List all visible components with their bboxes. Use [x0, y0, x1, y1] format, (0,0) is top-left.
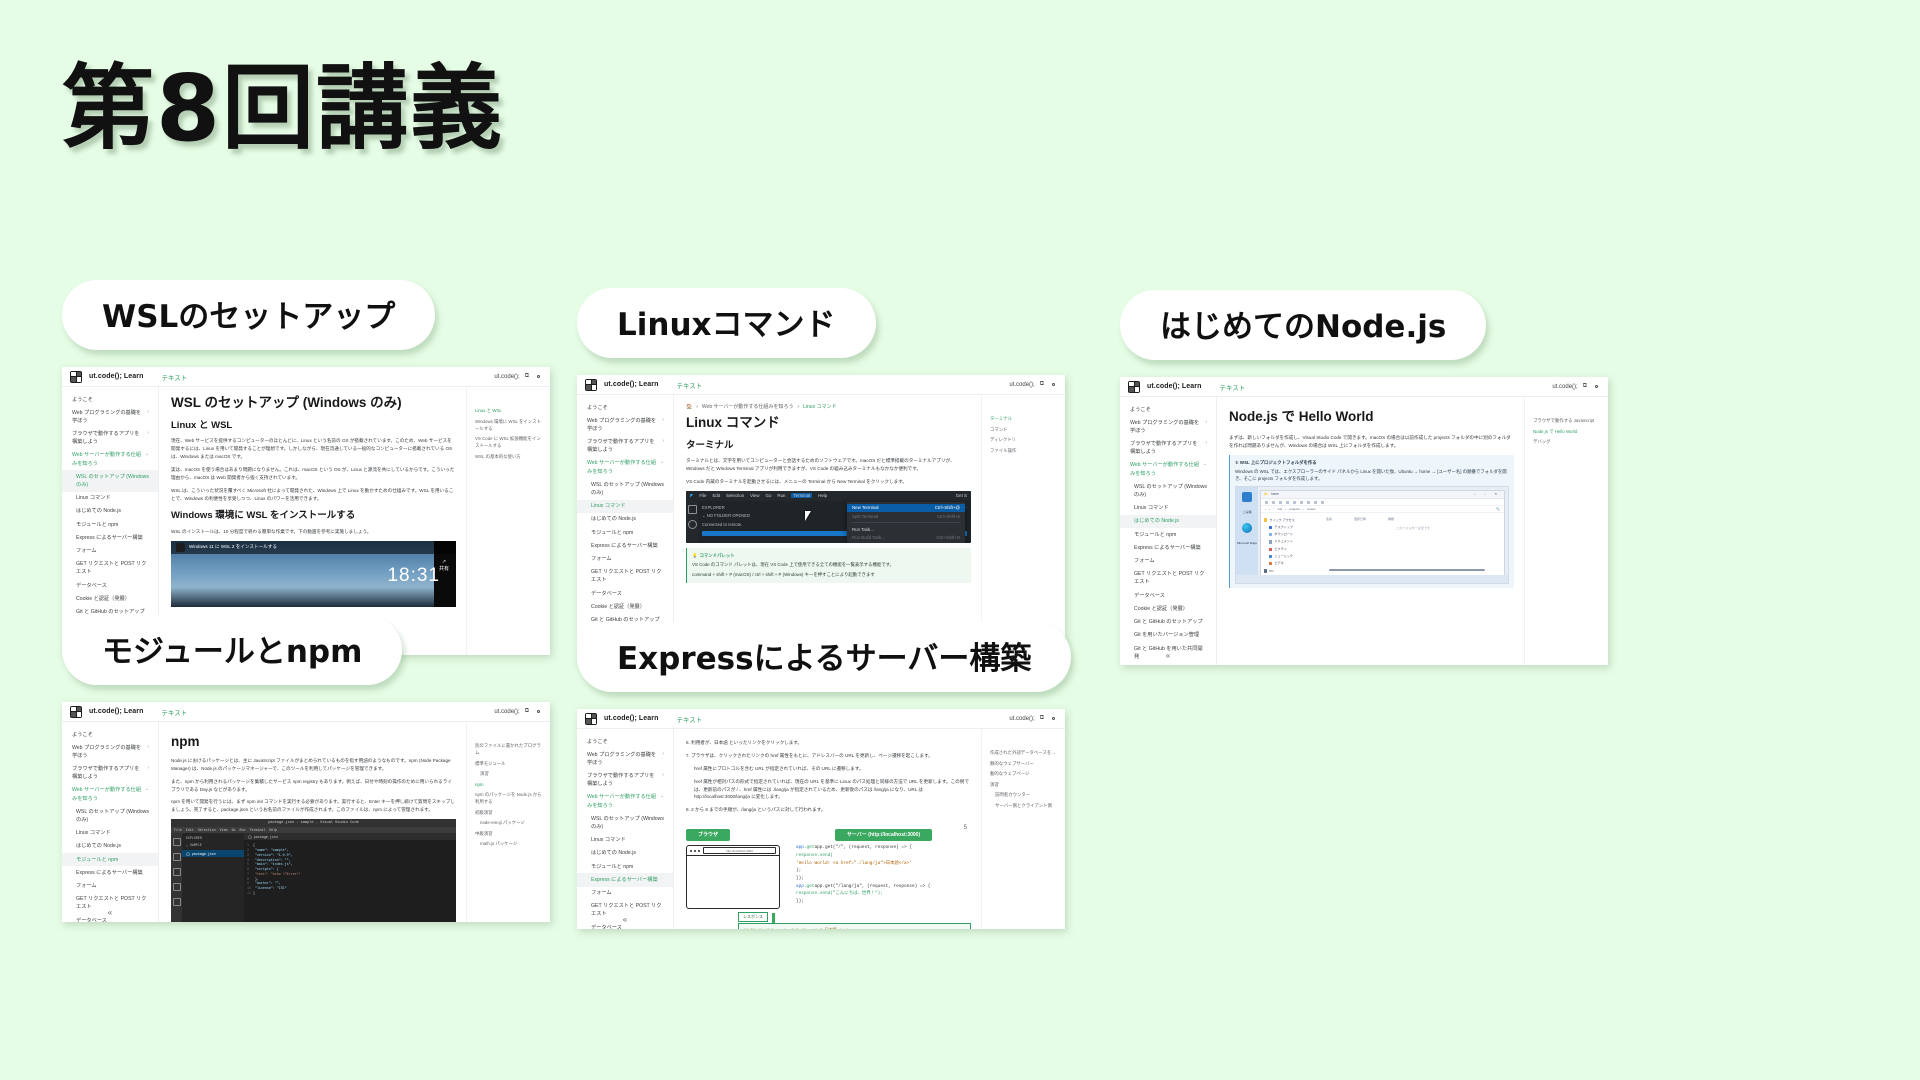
brand-name: ut.code(); Learn [89, 373, 144, 380]
doc-topbar: ut.code(); Learn テキスト ut.code(); ⧉ [577, 375, 1065, 395]
toc-item[interactable]: 標準モジュール [475, 760, 543, 767]
sidebar-item-label: Web サーバーが動作する仕組みを知ろう [72, 451, 142, 467]
path-segment[interactable]: recipe [1307, 507, 1315, 512]
sidebar-item-git-version[interactable]: Git を用いたバージョン管理 [1120, 629, 1216, 642]
toc-item[interactable]: node-emoji パッケージ [475, 819, 543, 826]
vscode-right-label: Get S [956, 493, 967, 498]
sidebar-item-form[interactable]: フォーム [1120, 555, 1216, 568]
taskbar [1236, 575, 1508, 583]
sidebar-item-label: WSL のセットアップ (Windows のみ) [591, 481, 664, 497]
toc-item[interactable]: VS Code に WSL 拡張機能をインストールする [475, 435, 543, 449]
screenshot-express[interactable]: ut.code(); Learn テキスト ut.code(); ⧉ ようこそ … [577, 709, 1065, 929]
sidebar-item-database[interactable]: データベース [62, 579, 158, 592]
paragraph: npm を用いて開発を行うには、まず npm init コマンドを実行する必要が… [171, 798, 456, 814]
sidebar-item-browser-apps[interactable]: ブラウザで動作するアプリを構築しよう› [62, 763, 158, 784]
list-item: 6. 利用者が、日本語 といったリンクをクリックします。 [686, 739, 971, 747]
callout-title: 💡コマンドパレット [692, 552, 966, 559]
external-link-icon[interactable]: ⧉ [525, 708, 529, 715]
paragraph: VS Code 内蔵のターミナルを起動させるには、メニューの Terminal … [686, 478, 971, 486]
sidebar-collapse-button[interactable]: « [62, 907, 158, 919]
menu-edit[interactable]: Edit [186, 828, 194, 832]
toc-item[interactable]: 静的なウェブサーバー [990, 760, 1058, 767]
scm-icon[interactable] [173, 868, 181, 876]
chevron-right-icon: › [147, 744, 149, 760]
paragraph: 現在、Web サービスを提供するコンピューターのほとんどに、Linux という名… [171, 437, 456, 461]
sort-icon[interactable] [1307, 501, 1310, 504]
sidebar-item-module-npm[interactable]: モジュールと npm [577, 526, 673, 539]
window-titlebar: 📁 home – ▫ ✕ [1261, 491, 1504, 499]
doc-main: npm Node.js におけるパッケージとは、主に JavaScript ファ… [159, 722, 466, 922]
sidebar-item-label: WSL のセットアップ (Windows のみ) [591, 815, 664, 831]
search-icon[interactable] [688, 520, 697, 529]
picture-icon [1269, 548, 1272, 551]
chevron-right-icon: › [662, 772, 664, 788]
sidebar-item-web-server[interactable]: Web サーバーが動作する仕組みを知ろう⌄ [1120, 459, 1216, 480]
debug-icon[interactable] [173, 883, 181, 891]
sidebar-item-cookie-auth[interactable]: Cookie と認証（発展） [62, 592, 158, 605]
sun-icon[interactable] [534, 708, 542, 716]
section-title-wsl: WSLのセットアップ [62, 280, 435, 350]
utcode-logo-icon [585, 713, 597, 725]
section-title-express: Expressによるサーバー構築 [577, 622, 1071, 692]
tree-item[interactable]: PC [1264, 567, 1320, 574]
view-icon[interactable] [1314, 501, 1317, 504]
menu-file[interactable]: File [174, 828, 182, 832]
tree-item[interactable]: ダウンロード [1264, 531, 1320, 538]
video-clock: 18:31 [387, 565, 440, 587]
sidebar-item-wsl-setup[interactable]: WSL のセットアップ (Windows のみ) [577, 812, 673, 833]
search-icon[interactable] [173, 853, 181, 861]
response-callout: レスポンス 'Hello World! <a href="./lang/ja">… [738, 905, 971, 929]
sidebar-item-label: Linux コマンド [591, 836, 626, 844]
tree-item-label: PC [1269, 569, 1273, 574]
paste-icon[interactable] [1286, 501, 1289, 504]
sidebar-item-label: ようこそ [72, 396, 93, 404]
toc-item[interactable]: デバッグ [1533, 438, 1601, 445]
diagram-browser-side: ブラウザ http://localhost:3000 [686, 823, 780, 909]
sidebar-item-wsl-setup[interactable]: WSL のセットアップ (Windows のみ) [62, 470, 158, 491]
sidebar-item-module-npm[interactable]: モジュールと npm [62, 853, 158, 866]
breadcrumb-item[interactable]: Web サーバーが動作する仕組みを知ろう [702, 403, 794, 410]
external-link-icon[interactable]: ⧉ [1040, 715, 1044, 722]
sidebar-item-label: データベース [76, 582, 107, 590]
diagram-browser-label: ブラウザ [686, 829, 730, 841]
sidebar-item-git-setup[interactable]: Git と GitHub のセットアップ [1120, 616, 1216, 629]
menu-file[interactable]: File [699, 493, 706, 498]
column-modified[interactable]: 更新日時 [1354, 517, 1366, 522]
screenshot-npm[interactable]: ut.code(); Learn テキスト ut.code(); ⧉ ようこそ … [62, 702, 550, 922]
chevron-right-icon: › [1205, 419, 1207, 435]
menu-item-run-task[interactable]: Run Task... [847, 525, 965, 533]
sidebar-item-label: Express によるサーバー構築 [76, 534, 143, 542]
topbar-right: ut.code(); ⧉ [494, 373, 542, 381]
sidebar-item-label: ブラウザで動作するアプリを構築しよう [72, 765, 144, 781]
tree-item[interactable]: ビデオ [1264, 560, 1320, 567]
sidebar-item-wsl-setup[interactable]: WSL のセットアップ (Windows のみ) [577, 478, 673, 499]
menu-item-label: Run Task... [852, 527, 874, 532]
sidebar-item-linux-command[interactable]: Linux コマンド [62, 827, 158, 840]
doc-body: ようこそ Web プログラミングの基礎を学ぼう› ブラウザで動作するアプリを構築… [62, 722, 550, 922]
brand-name: ut.code(); Learn [89, 708, 144, 715]
editor-code[interactable]: 1{ 2 "name": "sample", 3 "version": "1.0… [244, 840, 456, 895]
toc-item[interactable]: ターミナル [990, 415, 1058, 422]
home-icon[interactable]: 🏠 [686, 404, 692, 410]
toc-item[interactable]: ディレクトリ [990, 436, 1058, 443]
explorer-title: EXPLORER [702, 505, 725, 510]
doc-sidebar: ようこそ Web プログラミングの基礎を学ぼう› ブラウザで動作するアプリを構築… [62, 722, 159, 922]
url-bar[interactable]: http://localhost:3000 [703, 847, 776, 855]
callout-body: VS Code のコマンド パレットは、現在 VS Code 上で使用できる全て… [692, 561, 966, 568]
sidebar-item-browser-apps[interactable]: ブラウザで動作するアプリを構築しよう› [62, 428, 158, 449]
tree-item-label: ダウンロード [1274, 532, 1293, 537]
sidebar-item-label: Cookie と認証（発展） [1134, 605, 1188, 613]
folder-icon [1269, 526, 1272, 529]
chevron-right-icon: › [662, 417, 664, 433]
sidebar-item-label: Git と GitHub のセットアップ [1134, 618, 1203, 626]
sidebar-item-get-post[interactable]: GET リクエストと POST リクエスト [62, 558, 158, 579]
toc-item[interactable]: 別のファイルに書かれたプログラム [475, 742, 543, 756]
nav-link-text[interactable]: テキスト [1220, 382, 1246, 392]
tree-item-label: ドキュメント [1274, 539, 1293, 544]
lightbulb-icon: 💡 [692, 552, 697, 559]
toc-item[interactable]: ブラウザで動作する JavaScript [1533, 417, 1601, 424]
sidebar-item-browser-apps[interactable]: ブラウザで動作するアプリを構築しよう› [1120, 438, 1216, 459]
sidebar-item-linux-command[interactable]: Linux コマンド [577, 500, 673, 513]
folder-icon: 📁 [1264, 492, 1268, 497]
section-express: Expressによるサーバー構築 ut.code(); Learn テキスト u… [577, 622, 1071, 929]
sun-icon[interactable] [1049, 715, 1057, 723]
sidebar-item-welcome[interactable]: ようこそ [577, 401, 673, 414]
vscode-explorer: EXPLORER ⌄ SAMPLE {} package.json [182, 833, 244, 922]
sidebar-item-label: Cookie と認証（発展） [591, 603, 645, 611]
sidebar-item-get-post[interactable]: GET リクエストと POST リクエスト [577, 566, 673, 587]
window-dots-icon [690, 850, 700, 852]
sidebar-item-express[interactable]: Express によるサーバー構築 [62, 531, 158, 544]
chevron-down-icon: ⌄ [660, 793, 664, 809]
window-title: home [1271, 492, 1279, 497]
screenshot-nodejs[interactable]: ut.code(); Learn テキスト ut.code(); ⧉ ようこそ … [1120, 377, 1608, 665]
files-icon[interactable] [688, 505, 697, 514]
doc-body: ようこそ Web プログラミングの基礎を学ぼう› ブラウザで動作するアプリを構築… [577, 729, 1065, 929]
sidebar-item-web-basics[interactable]: Web プログラミングの基礎を学ぼう› [62, 406, 158, 427]
breadcrumb-item-current[interactable]: Linux コマンド [803, 403, 836, 410]
sidebar-item-first-nodejs[interactable]: はじめての Node.js [577, 847, 673, 860]
section-npm: モジュールとnpm ut.code(); Learn テキスト ut.code(… [62, 615, 550, 922]
video-embed[interactable]: Windows 11 に WSL 2 をインストールする ↗共有 18:31 [171, 541, 456, 607]
sidebar-item-web-basics[interactable]: Web プログラミングの基礎を学ぼう› [577, 748, 673, 769]
extensions-icon[interactable] [173, 898, 181, 906]
vscode-mock: ◤ File Edit Selection View Go Run Termin… [686, 491, 971, 543]
server-code-block[interactable]: app.getapp.get("/", (request, response) … [796, 844, 971, 906]
toc-item[interactable]: Node.js で Hello World [1533, 428, 1601, 435]
toc-item[interactable]: Linux と WSL [475, 407, 543, 414]
video-avatar-icon [176, 543, 185, 552]
window-controls[interactable]: – ▫ ✕ [1474, 492, 1501, 497]
vscode-workbench: EXPLORER ⌄ SAMPLE {} package.json {} pac… [171, 833, 456, 922]
menu-item-label: Run Build Task... [852, 535, 885, 540]
external-link-icon[interactable]: ⧉ [525, 373, 529, 380]
doc-root: ut.code(); Learn テキスト ut.code(); ⧉ ようこそ … [1120, 377, 1608, 665]
toc-item[interactable]: ファイル操作 [990, 447, 1058, 454]
tree-item-label: ミュージック [1274, 554, 1293, 559]
step-number: 5 [964, 825, 967, 831]
menu-item-run-build-task[interactable]: Run Build Task...Ctrl+Shift+B [847, 533, 965, 541]
menu-view[interactable]: View [220, 828, 228, 832]
sidebar-item-form[interactable]: フォーム [577, 553, 673, 566]
toc-item[interactable]: 訪問者カウンター [990, 791, 1058, 798]
menu-item-split-terminal[interactable]: Split TerminalCtrl+Shift+5 [847, 512, 965, 520]
chevron-right-icon: › [147, 409, 149, 425]
menu-help[interactable]: Help [818, 493, 827, 498]
sidebar-item-label: Web プログラミングの基礎を学ぼう [587, 751, 659, 767]
search-icon[interactable]: 🔍 [1496, 507, 1500, 512]
sidebar-item-web-server[interactable]: Web サーバーが動作する仕組みを知ろう⌄ [577, 457, 673, 478]
callout-keys: command + shift + P (macOS) / ctrl + shi… [692, 571, 966, 578]
back-icon[interactable]: ‹ [1265, 507, 1266, 512]
filelist-columns: 名前 更新日時 種類 [1326, 517, 1500, 522]
tree-item[interactable]: ピクチャ [1264, 546, 1320, 553]
nav-link-text[interactable]: テキスト [677, 714, 703, 724]
page-heading: Linux コマンド [686, 415, 971, 432]
tree-item[interactable]: ミュージック [1264, 553, 1320, 560]
new-icon[interactable] [1265, 501, 1268, 504]
brand-name: ut.code(); Learn [1147, 383, 1202, 390]
sidebar-item-label: はじめての Node.js [76, 842, 121, 850]
menu-view[interactable]: View [750, 493, 759, 498]
address-bar[interactable]: ‹›↑ wsl› projects› recipe 🔍 [1261, 506, 1504, 513]
menu-help[interactable]: Help [269, 828, 277, 832]
sidebar-item-database[interactable]: データベース [577, 587, 673, 600]
sidebar-item-label: モジュールと npm [76, 856, 118, 864]
external-link-icon[interactable]: ⧉ [1040, 381, 1044, 388]
page-title: 第8回講義 [62, 56, 504, 162]
callout-title-text: コマンドパレット [699, 552, 734, 559]
edge-icon [1242, 523, 1252, 533]
sidebar-item-label: モジュールと npm [76, 521, 118, 529]
rename-icon[interactable] [1293, 501, 1296, 504]
video-share-button[interactable]: ↗共有 [439, 559, 449, 572]
code-line: }); [796, 875, 971, 883]
sidebar-item-label: WSL のセットアップ (Windows のみ) [1134, 483, 1207, 499]
topbar-right: ut.code(); ⧉ [1009, 715, 1057, 723]
nav-link-text[interactable]: テキスト [677, 380, 703, 390]
sidebar-item-first-nodejs[interactable]: はじめての Node.js [1120, 515, 1216, 528]
delete-icon[interactable] [1300, 501, 1303, 504]
top-right-label: ut.code(); [494, 709, 519, 715]
sidebar-item-web-server[interactable]: Web サーバーが動作する仕組みを知ろう⌄ [62, 449, 158, 470]
topbar-right: ut.code(); ⧉ [1552, 383, 1600, 391]
menu-item-shortcut: Ctrl+Shift+@ [935, 505, 960, 510]
breadcrumb: 🏠› Web サーバーが動作する仕組みを知ろう› Linux コマンド [686, 403, 971, 410]
sidebar-item-wsl-setup[interactable]: WSL のセットアップ (Windows のみ) [62, 805, 158, 826]
sidebar-item-web-server[interactable]: Web サーバーが動作する仕組みを知ろう⌄ [577, 791, 673, 812]
sidebar-item-label: Web プログラミングの基礎を学ぼう [587, 417, 659, 433]
toc-item[interactable]: コマンド [990, 426, 1058, 433]
doc-sidebar: ようこそ Web プログラミングの基礎を学ぼう› ブラウザで動作するアプリを構築… [577, 729, 674, 929]
sidebar-item-express[interactable]: Express によるサーバー構築 [577, 873, 673, 886]
sidebar-item-label: フォーム [591, 555, 612, 563]
external-link-icon[interactable]: ⧉ [1583, 383, 1587, 390]
code-line: app.getapp.get("/lang/ja", (request, res… [796, 883, 971, 891]
sidebar-item-wsl-setup[interactable]: WSL のセットアップ (Windows のみ) [1120, 480, 1216, 501]
sidebar-item-form[interactable]: フォーム [62, 880, 158, 893]
sidebar-item-first-nodejs[interactable]: はじめての Node.js [62, 840, 158, 853]
utcode-logo-icon [70, 706, 82, 718]
response-body: 'Hello World! <a href="./lang/ja">日本語</a… [738, 923, 971, 929]
menu-item-label: Split Terminal [852, 514, 878, 519]
nav-link-text[interactable]: テキスト [162, 372, 188, 382]
diagram-server-side: サーバー (http://localhost:3000) 5 app.getap… [796, 823, 971, 906]
sidebar-item-label: Express によるサーバー構築 [1134, 544, 1201, 552]
more-icon[interactable] [1321, 501, 1324, 504]
toc-item[interactable]: 動的なウェブページ [990, 770, 1058, 777]
sidebar-item-cookie-auth[interactable]: Cookie と認証（発展） [577, 600, 673, 613]
toc-item[interactable]: 作成された外部データベースを... [990, 749, 1058, 756]
toc-item[interactable]: npm [475, 781, 543, 788]
path-segment[interactable]: wsl [1278, 507, 1282, 512]
sidebar-item-welcome[interactable]: ようこそ [1120, 403, 1216, 416]
browser-window-mock: http://localhost:3000 [686, 845, 780, 909]
top-right-label: ut.code(); [1009, 716, 1034, 722]
section-heading: Windows 環境に WSL をインストールする [171, 510, 456, 522]
code-line: ); [796, 867, 971, 875]
sidebar-item-linux-command[interactable]: Linux コマンド [1120, 502, 1216, 515]
sun-icon[interactable] [1592, 383, 1600, 391]
menu-terminal[interactable]: Terminal [249, 828, 265, 832]
toc-item[interactable]: 演習 [475, 770, 543, 777]
copy-icon[interactable] [1279, 501, 1282, 504]
sidebar-item-welcome[interactable]: ようこそ [577, 735, 673, 748]
menu-go[interactable]: Go [232, 828, 236, 832]
sidebar-item-label: Linux コマンド [591, 502, 626, 510]
sidebar-item-label: ブラウザで動作するアプリを構築しよう [72, 430, 144, 446]
paragraph: また、npm から利用されるパッケージを集積したサービス npm registr… [171, 778, 456, 794]
sidebar-item-linux-command[interactable]: Linux コマンド [577, 834, 673, 847]
tree-item[interactable]: デスクトップ [1264, 524, 1320, 531]
toc-item[interactable]: Windows 環境に WSL をインストールする [475, 418, 543, 432]
brand-name: ut.code(); Learn [604, 381, 659, 388]
toc-item[interactable]: 初級演習 [475, 809, 543, 816]
sidebar-item-form[interactable]: フォーム [577, 887, 673, 900]
tree-item[interactable]: クイック アクセス [1264, 516, 1320, 523]
screenshot-wsl[interactable]: ut.code(); Learn テキスト ut.code(); ⧉ ようこそ … [62, 367, 550, 655]
sidebar-item-linux-command[interactable]: Linux コマンド [62, 492, 158, 505]
sidebar-item-label: Cookie と認証（発展） [76, 595, 130, 603]
menu-terminal[interactable]: Terminal [791, 493, 812, 498]
cut-icon[interactable] [1272, 501, 1275, 504]
menu-edit[interactable]: Edit [712, 493, 720, 498]
tree-item-label: ピクチャ [1274, 547, 1286, 552]
app-icon [1242, 492, 1252, 502]
sidebar-item-get-post[interactable]: GET リクエストと POST リクエスト [1120, 568, 1216, 589]
sidebar-item-express[interactable]: Express によるサーバー構築 [62, 866, 158, 879]
app-label: Microsoft Edge [1237, 541, 1257, 546]
sidebar-item-web-basics[interactable]: Web プログラミングの基礎を学ぼう› [1120, 416, 1216, 437]
path-segment[interactable]: projects [1289, 507, 1300, 512]
toc-item[interactable]: 演習 [990, 781, 1058, 788]
sidebar-item-label: モジュールと npm [1134, 531, 1176, 539]
doc-root: ut.code(); Learn テキスト ut.code(); ⧉ ようこそ … [577, 375, 1065, 663]
page-heading: npm [171, 734, 456, 751]
sidebar-item-welcome[interactable]: ようこそ [62, 393, 158, 406]
sidebar-item-web-basics[interactable]: Web プログラミングの基礎を学ぼう› [62, 741, 158, 762]
sidebar-item-module-npm[interactable]: モジュールと npm [1120, 528, 1216, 541]
video-title: Windows 11 に WSL 2 をインストールする [189, 544, 277, 550]
window-title: package.json - sample - Visual Studio Co… [171, 819, 456, 827]
sidebar-item-first-nodejs[interactable]: はじめての Node.js [577, 513, 673, 526]
menu-divider [851, 522, 961, 523]
sidebar-item-render-deploy[interactable]: Render へのデプロイ [1120, 663, 1216, 665]
forward-icon[interactable]: › [1269, 507, 1270, 512]
section-wsl: WSLのセットアップ ut.code(); Learn テキスト ut.code… [62, 280, 550, 655]
chevron-right-icon: › [147, 430, 149, 446]
toc-item[interactable]: 中級演習 [475, 830, 543, 837]
menu-go[interactable]: Go [766, 493, 772, 498]
sidebar-item-express[interactable]: Express によるサーバー構築 [1120, 541, 1216, 554]
explorer-file-selected[interactable]: {} package.json [182, 850, 244, 857]
toc-item[interactable]: WSL の基本的な使い方 [475, 453, 543, 460]
music-icon [1269, 555, 1272, 558]
sidebar-item-module-npm[interactable]: モジュールと npm [577, 860, 673, 873]
sidebar-item-database[interactable]: データベース [1120, 589, 1216, 602]
section-linux: Linuxコマンド ut.code(); Learn テキスト ut.code(… [577, 288, 1065, 663]
doc-root: ut.code(); Learn テキスト ut.code(); ⧉ ようこそ … [62, 702, 550, 922]
sidebar-collapse-button[interactable]: « [1120, 650, 1216, 662]
toc-item[interactable]: npm のパッケージを Node.js から利用する [475, 791, 543, 805]
tree-item-label: クイック アクセス [1269, 518, 1294, 523]
sidebar-item-browser-apps[interactable]: ブラウザで動作するアプリを構築しよう› [577, 436, 673, 457]
sidebar-item-express[interactable]: Express によるサーバー構築 [577, 539, 673, 552]
sidebar-item-module-npm[interactable]: モジュールと npm [62, 518, 158, 531]
sun-icon[interactable] [1049, 381, 1057, 389]
sidebar-collapse-button[interactable]: « [577, 914, 673, 926]
tree-item[interactable]: ドキュメント [1264, 538, 1320, 545]
up-icon[interactable]: ↑ [1273, 507, 1275, 512]
explorer-folder[interactable]: ⌄ SAMPLE [182, 843, 244, 850]
sidebar-item-first-nodejs[interactable]: はじめての Node.js [62, 505, 158, 518]
sidebar-item-web-basics[interactable]: Web プログラミングの基礎を学ぼう› [577, 414, 673, 435]
sidebar-item-welcome[interactable]: ようこそ [62, 728, 158, 741]
section-title-npm: モジュールとnpm [62, 615, 402, 685]
nav-link-text[interactable]: テキスト [162, 707, 188, 717]
sidebar-item-form[interactable]: フォーム [62, 545, 158, 558]
menu-selection[interactable]: Selection [726, 493, 744, 498]
toc-item[interactable]: サーバー側とクライアント側 [990, 802, 1058, 809]
screenshot-linux[interactable]: ut.code(); Learn テキスト ut.code(); ⧉ ようこそ … [577, 375, 1065, 663]
sidebar-item-web-server[interactable]: Web サーバーが動作する仕組みを知ろう⌄ [62, 784, 158, 805]
files-icon[interactable] [173, 838, 181, 846]
menu-run[interactable]: Run [240, 828, 246, 832]
sun-icon[interactable] [534, 373, 542, 381]
column-name[interactable]: 名前 [1326, 517, 1332, 522]
menu-run[interactable]: Run [777, 493, 785, 498]
toc-item[interactable]: math.js パッケージ [475, 840, 543, 847]
sidebar-item-label: Web サーバーが動作する仕組みを知ろう [587, 459, 657, 475]
sidebar-item-cookie-auth[interactable]: Cookie と認証（発展） [1120, 602, 1216, 615]
topbar-right: ut.code(); ⧉ [1009, 381, 1057, 389]
menu-selection[interactable]: Selection [198, 828, 216, 832]
sidebar-item-label: Web プログラミングの基礎を学ぼう [72, 744, 144, 760]
chevron-down-icon: ⌄ [1203, 461, 1207, 477]
sidebar-item-browser-apps[interactable]: ブラウザで動作するアプリを構築しよう› [577, 770, 673, 791]
utcode-logo-icon [1128, 381, 1140, 393]
section-title-nodejs: はじめてのNode.js [1120, 290, 1486, 360]
sidebar-item-label: GET リクエストと POST リクエスト [591, 568, 664, 584]
code-line: response.send("こんにちは、世界！"); [796, 890, 971, 898]
column-type[interactable]: 種類 [1388, 517, 1394, 522]
editor-tab[interactable]: {} package.json [244, 833, 456, 840]
menu-item-new-terminal[interactable]: New TerminalCtrl+Shift+@ [847, 504, 965, 512]
